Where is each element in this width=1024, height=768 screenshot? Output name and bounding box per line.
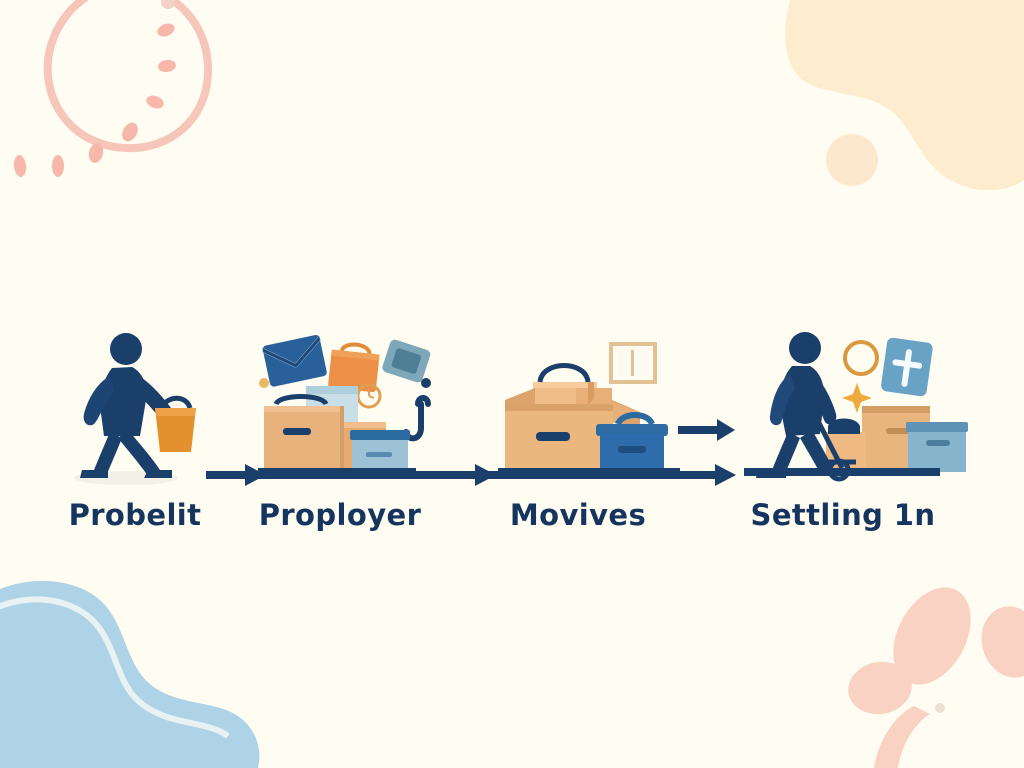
step-label-2: Proployer	[240, 498, 440, 532]
step-label-1: Probelit	[35, 498, 235, 532]
step-label-4: Settling 1n	[738, 498, 948, 532]
illustration-canvas: Probelit Proployer Movives Settling 1n	[0, 0, 1024, 768]
step-label-3: Movives	[478, 498, 678, 532]
step-labels-layer: Probelit Proployer Movives Settling 1n	[0, 0, 1024, 768]
